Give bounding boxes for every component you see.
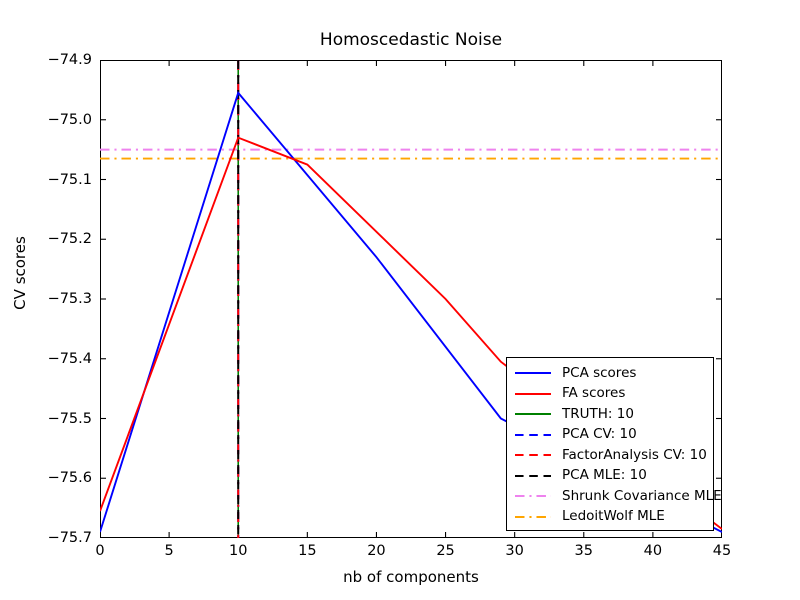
figure-canvas: Homoscedastic Noise CV scores −75.7−75.6… [0,0,800,600]
legend-line-swatch [513,366,553,380]
y-axis-tick-labels: −75.7−75.6−75.5−75.4−75.3−75.2−75.1−75.0… [0,60,92,538]
legend-line-swatch [513,448,553,462]
y-tick-label: −75.1 [48,172,92,188]
legend-item[interactable]: TRUTH: 10 [513,404,707,425]
x-tick-label: 25 [436,543,454,559]
legend-item[interactable]: FactorAnalysis CV: 10 [513,445,707,466]
legend-item-label: FactorAnalysis CV: 10 [562,449,707,463]
x-tick-label: 0 [95,543,104,559]
x-tick-label: 40 [644,543,662,559]
x-tick-label: 5 [164,543,173,559]
x-tick-label: 20 [367,543,385,559]
y-tick-label: −75.5 [48,411,92,427]
y-tick-label: −75.3 [48,291,92,307]
legend-line-swatch [513,489,553,503]
y-tick-label: −75.4 [48,351,92,367]
legend-item-label: FA scores [562,387,625,401]
legend-item[interactable]: PCA CV: 10 [513,425,707,446]
x-axis-label: nb of components [100,568,722,586]
legend-item-label: LedoitWolf MLE [562,510,665,524]
x-tick-label: 10 [229,543,247,559]
y-tick-label: −75.2 [48,231,92,247]
legend-item[interactable]: PCA MLE: 10 [513,466,707,487]
legend-item-label: Shrunk Covariance MLE [562,490,722,504]
legend-item[interactable]: PCA scores [513,363,707,384]
legend-line-swatch [513,387,553,401]
legend-line-swatch [513,469,553,483]
legend-item-label: PCA CV: 10 [562,428,637,442]
y-tick-label: −75.7 [48,530,92,546]
x-tick-label: 35 [575,543,593,559]
x-tick-label: 45 [713,543,731,559]
y-tick-label: −75.6 [48,470,92,486]
chart-title: Homoscedastic Noise [100,30,722,50]
legend-line-swatch [513,510,553,524]
x-tick-label: 30 [505,543,523,559]
legend-line-swatch [513,428,553,442]
x-axis-tick-labels: 051015202530354045 [100,543,722,565]
legend-item-label: TRUTH: 10 [562,408,634,422]
legend-item-label: PCA scores [562,367,636,381]
legend-item[interactable]: Shrunk Covariance MLE [513,486,707,507]
legend-line-swatch [513,407,553,421]
legend-item-label: PCA MLE: 10 [562,469,647,483]
legend[interactable]: PCA scoresFA scoresTRUTH: 10PCA CV: 10Fa… [506,357,714,531]
y-tick-label: −74.9 [48,52,92,68]
legend-item[interactable]: FA scores [513,384,707,405]
legend-item[interactable]: LedoitWolf MLE [513,507,707,528]
y-tick-label: −75.0 [48,112,92,128]
x-tick-label: 15 [298,543,316,559]
